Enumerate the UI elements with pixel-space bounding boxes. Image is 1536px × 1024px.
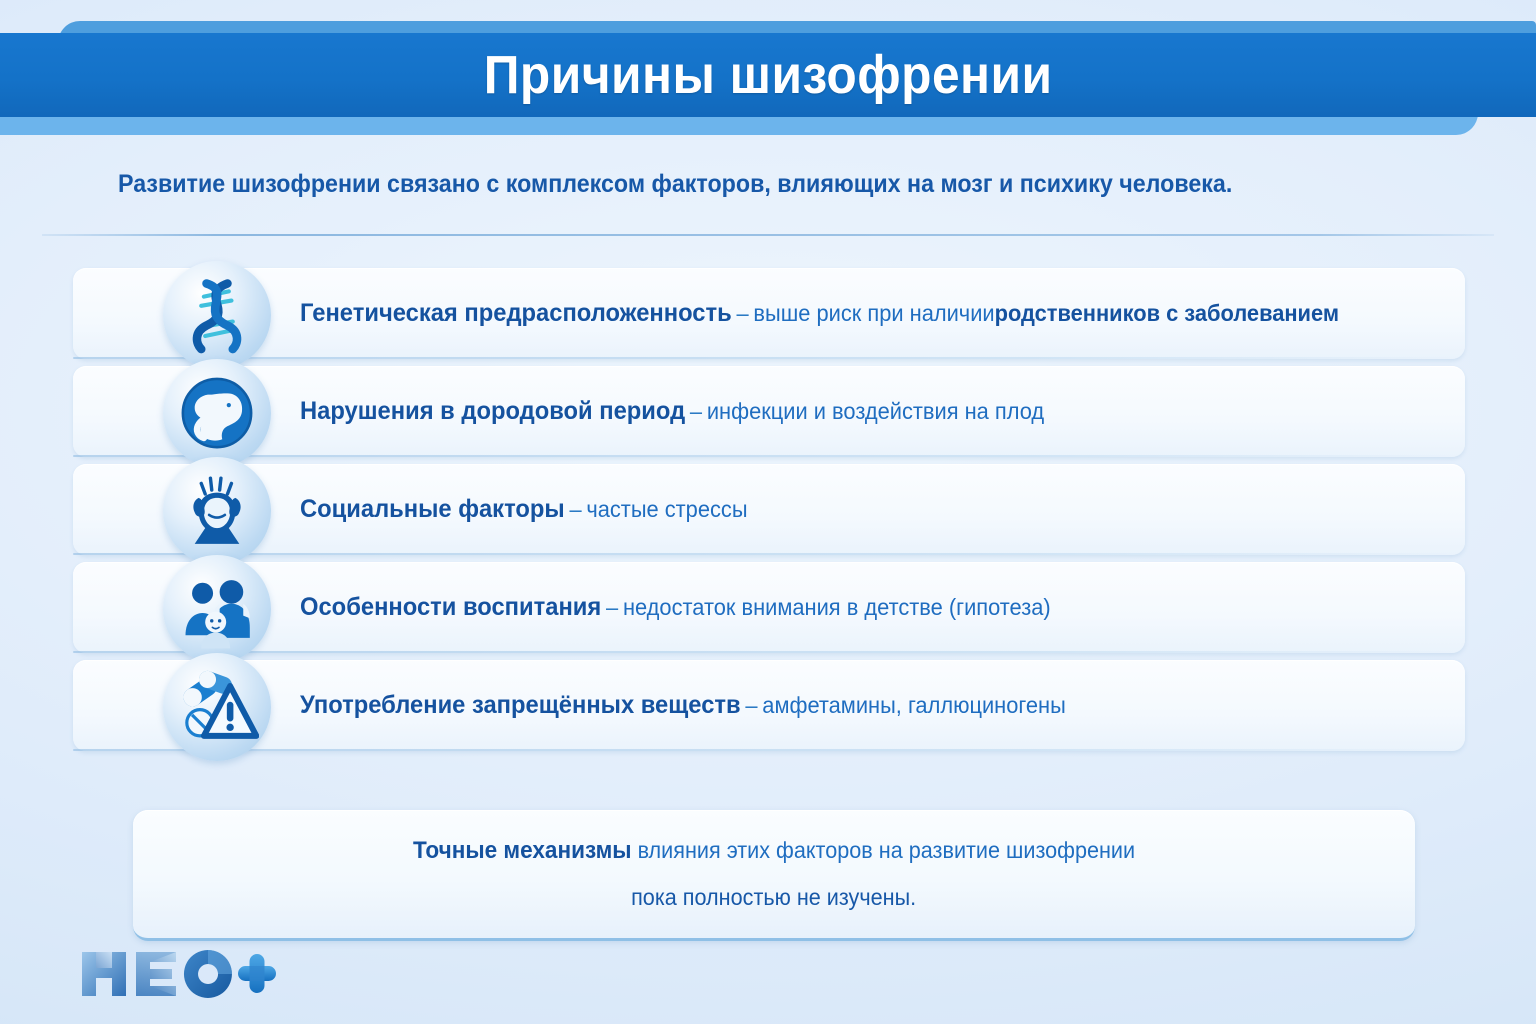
factor-desc: выше риск при наличии [753,300,994,327]
factor-text: Особенности воспитания – недостаток вним… [300,562,1051,653]
factor-desc: частые стрессы [586,496,747,523]
factor-dash: – [732,300,754,327]
factor-card [73,464,1465,555]
factor-title: Особенности воспитания [300,593,601,622]
conclusion-line-1: Точные механизмы влияния этих факторов н… [413,828,1135,875]
factor-desc: недостаток внимания в детстве (гипотеза) [623,594,1051,621]
factor-text: Социальные факторы – частые стрессы [300,464,748,555]
factor-title: Употребление запрещённых веществ [300,691,741,720]
factor-title: Социальные факторы [300,495,565,524]
factor-dash: – [565,496,587,523]
factor-row[interactable]: Социальные факторы – частые стрессы [0,464,1536,559]
stressed-head-icon [163,457,271,565]
fetus-icon [163,359,271,467]
infographic-page: Причины шизофрении Развитие шизофрении с… [0,0,1536,1024]
factor-dash: – [601,594,623,621]
header-band: Причины шизофрении [0,33,1536,117]
factor-list: Генетическая предрасположенность – выше … [0,268,1536,758]
factor-row[interactable]: Употребление запрещённых веществ – амфет… [0,660,1536,755]
factor-text: Генетическая предрасположенность – выше … [300,268,1339,359]
factor-title: Нарушения в дородовой период [300,397,685,426]
factor-text: Употребление запрещённых веществ – амфет… [300,660,1066,751]
factor-title: Генетическая предрасположенность [300,299,732,328]
factor-row[interactable]: Особенности воспитания – недостаток вним… [0,562,1536,657]
header: Причины шизофрении [0,0,1536,140]
conclusion-box: Точные механизмы влияния этих факторов н… [133,810,1415,941]
page-title: Причины шизофрении [484,44,1053,106]
pills-warning-icon [163,653,271,761]
conclusion-rest: влияния этих факторов на развитие шизофр… [631,837,1135,863]
factor-card-underline [73,553,1465,555]
family-icon [163,555,271,663]
dna-helix-icon [163,261,271,369]
conclusion-line-2: пока полностью не изучены. [631,875,916,920]
factor-row[interactable]: Генетическая предрасположенность – выше … [0,268,1536,363]
neo-plus-logo[interactable] [78,944,278,1002]
factor-row[interactable]: Нарушения в дородовой период – инфекции … [0,366,1536,461]
factor-dash: – [685,398,707,425]
factor-desc: инфекции и воздействия на плод [707,398,1044,425]
intro-text: Развитие шизофрении связано с комплексом… [118,170,1327,199]
factor-dash: – [741,692,763,719]
factor-desc-strong: родственников с заболеванием [995,300,1339,327]
conclusion-strong: Точные механизмы [413,837,632,864]
factor-text: Нарушения в дородовой период – инфекции … [300,366,1044,457]
intro-divider [42,234,1494,236]
factor-desc: амфетамины, галлюциногены [762,692,1066,719]
